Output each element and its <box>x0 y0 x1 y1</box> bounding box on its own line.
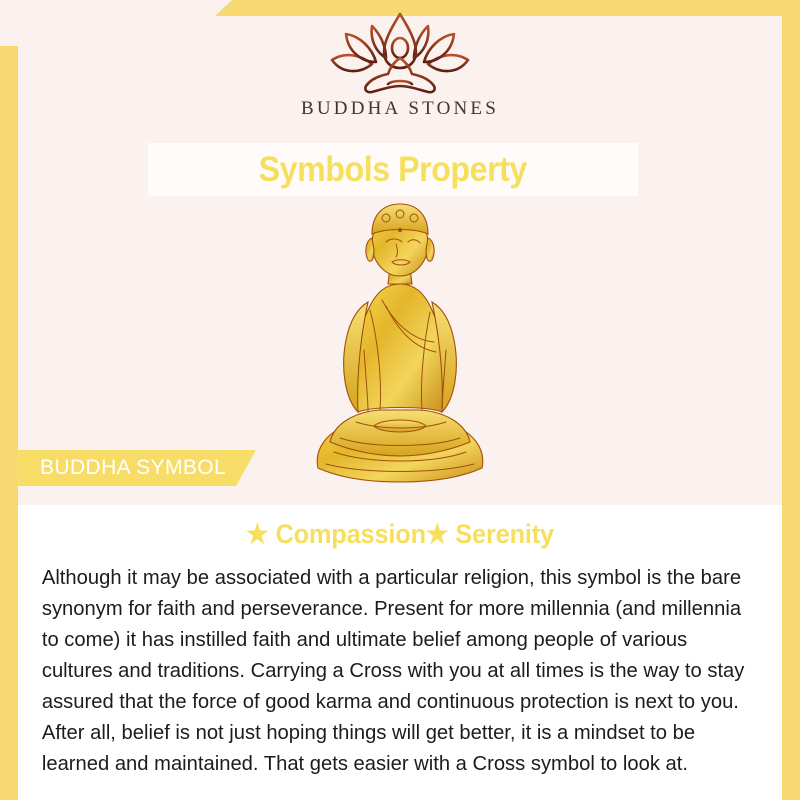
brand-name: BUDDHA STONES <box>301 98 499 120</box>
buddha-symbol-badge: BUDDHA SYMBOL <box>18 450 256 486</box>
description-card: ★ Compassion★ Serenity Although it may b… <box>18 505 782 800</box>
page-title-band: Symbols Property <box>148 143 638 196</box>
page-title: Symbols Property <box>259 150 527 190</box>
poster-root: BUDDHA STONES Symbols Property <box>0 0 800 800</box>
buddha-symbol-badge-label: BUDDHA SYMBOL <box>18 456 226 480</box>
body-paragraph: Although it may be associated with a par… <box>32 562 757 779</box>
seated-golden-buddha-statue <box>310 200 490 485</box>
tagline: ★ Compassion★ Serenity <box>54 519 746 550</box>
lotus-meditation-icon <box>316 8 484 96</box>
hero-image-wrap <box>0 200 800 490</box>
